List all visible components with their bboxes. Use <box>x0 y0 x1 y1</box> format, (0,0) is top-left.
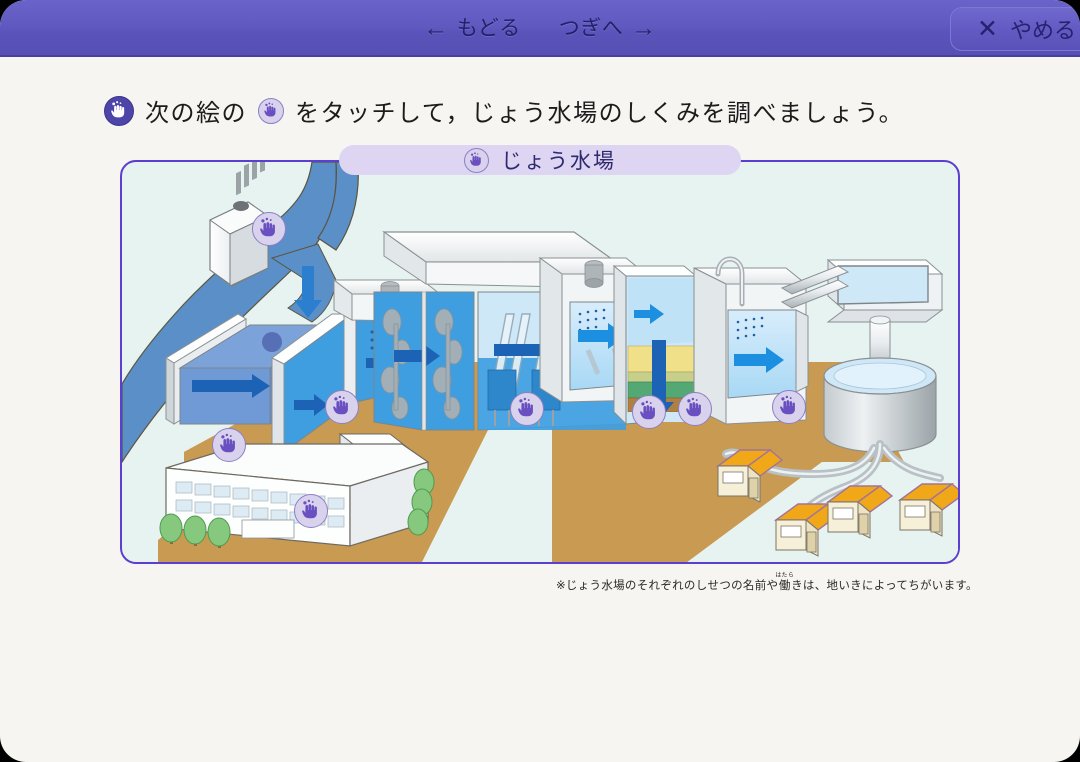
instruction-line: 次の絵の をタッチして，じょう水場のしくみを調べましょう。 <box>104 93 904 128</box>
hotspot-admin-building-roof[interactable] <box>212 428 246 462</box>
diagram-title-label: じょう水場 <box>501 145 616 175</box>
diagram-footnote: ※じょう水場のそれぞれのしせつの名前や働はたらきは、地いきによってちがいます。 <box>556 572 978 593</box>
arrow-left-icon: ← <box>423 16 449 41</box>
arrow-right-icon: → <box>631 16 657 41</box>
nav-button-group: ← もどる つぎへ → <box>0 0 1080 57</box>
footnote-ruby: 働はたら <box>778 578 791 592</box>
top-navigation-bar: ← もどる つぎへ → ✕ やめる <box>0 0 1080 57</box>
hotspot-disinfection-basin[interactable] <box>772 390 806 424</box>
hotspot-admin-building-front[interactable] <box>294 494 328 528</box>
footnote-text-a: ※じょう水場のそれぞれのしせつの名前や <box>556 578 778 592</box>
back-button[interactable]: ← もどる <box>417 14 527 43</box>
next-button[interactable]: つぎへ → <box>553 14 663 43</box>
touch-hand-icon <box>464 148 489 173</box>
touch-hand-icon <box>104 96 134 126</box>
close-icon: ✕ <box>977 17 998 42</box>
next-button-label: つぎへ <box>559 18 624 39</box>
diagram-illustration <box>122 162 960 564</box>
hotspot-chemical-dosing-tank[interactable] <box>632 395 666 429</box>
tree <box>408 509 428 535</box>
quit-button[interactable]: ✕ やめる <box>950 7 1080 51</box>
hotspot-mixing-basin[interactable] <box>325 390 359 424</box>
hotspot-sedimentation-basin[interactable] <box>510 392 544 426</box>
hotspot-river-intake[interactable] <box>252 212 286 246</box>
back-button-label: もどる <box>457 18 521 39</box>
water-purification-plant-diagram <box>120 160 960 564</box>
footnote-ruby-text: はたら <box>775 572 794 579</box>
diagram-title-banner: じょう水場 <box>339 145 741 175</box>
quit-button-label: やめる <box>1010 13 1076 45</box>
app-window: ← もどる つぎへ → ✕ やめる 次の絵の <box>0 0 1080 762</box>
hotspot-sand-filter-basin[interactable] <box>678 392 712 426</box>
touch-hand-icon <box>258 98 284 124</box>
instruction-text-after: をタッチして，じょう水場のしくみを調べましょう。 <box>295 93 904 128</box>
clean-water-tank <box>828 260 942 322</box>
footnote-text-b: きは、地いきによってちがいます。 <box>791 578 978 592</box>
instruction-text-before: 次の絵の <box>145 93 247 128</box>
water-reservoir <box>824 358 936 452</box>
